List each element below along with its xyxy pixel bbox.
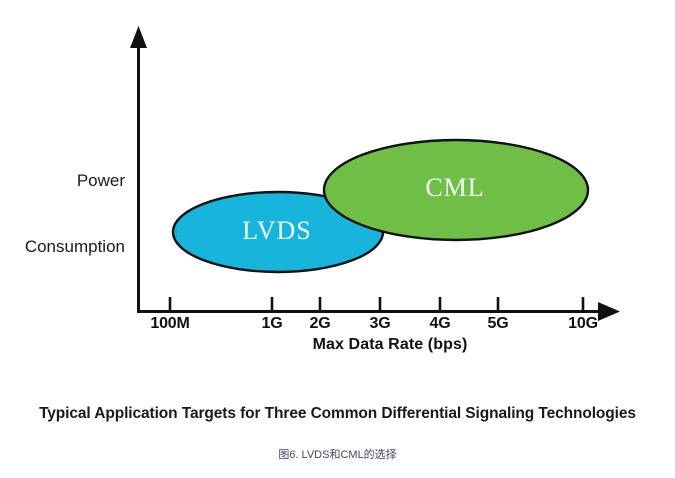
region-ellipse-cml[interactable] bbox=[324, 140, 588, 240]
y-axis-title-line1: Power bbox=[20, 170, 125, 192]
y-axis-title-line2: Consumption bbox=[20, 236, 125, 258]
figure-caption-main: Typical Application Targets for Three Co… bbox=[0, 405, 675, 423]
x-axis-tick-marks bbox=[170, 297, 583, 311]
right-arrow-icon bbox=[598, 302, 620, 321]
y-axis-title: Power Consumption bbox=[20, 126, 125, 302]
y-axis-group bbox=[130, 26, 147, 313]
x-tick-label-100m: 100M bbox=[150, 315, 189, 333]
x-axis-title: Max Data Rate (bps) bbox=[240, 336, 540, 354]
x-tick-label-1g: 1G bbox=[262, 315, 283, 333]
up-arrow-icon bbox=[130, 26, 147, 48]
x-tick-label-2g: 2G bbox=[310, 315, 331, 333]
chart-figure: Power Consumption Max Data Rate (bps) 10… bbox=[0, 0, 675, 390]
x-tick-label-4g: 4G bbox=[430, 315, 451, 333]
figure-page: Power Consumption Max Data Rate (bps) 10… bbox=[0, 0, 675, 478]
x-tick-label-5g: 5G bbox=[488, 315, 509, 333]
x-tick-label-3g: 3G bbox=[370, 315, 391, 333]
x-tick-label-10g: 10G bbox=[568, 315, 598, 333]
figure-caption-sub: 图6. LVDS和CML的选择 bbox=[0, 446, 675, 462]
